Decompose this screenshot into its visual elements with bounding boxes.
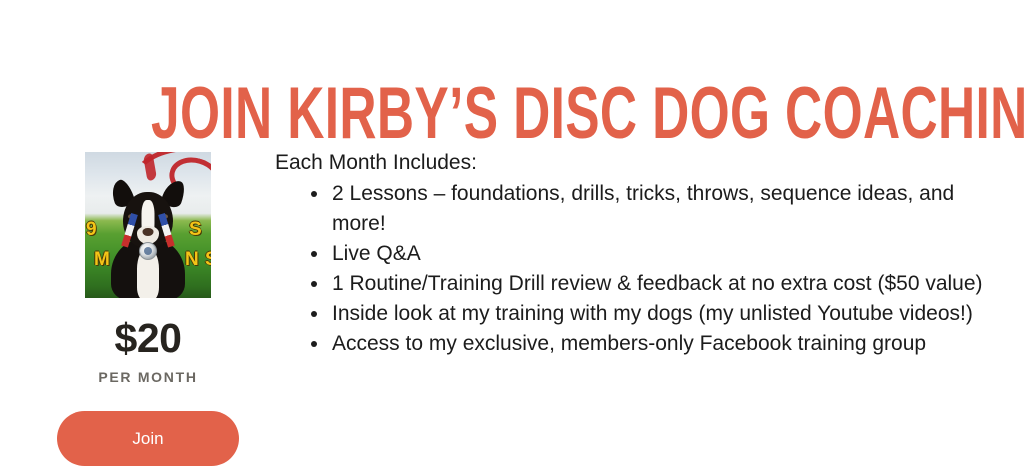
content-area: 9 M S N S (0, 140, 1024, 476)
bullet-icon (311, 341, 317, 347)
list-item: 1 Routine/Training Drill review & feedba… (311, 269, 995, 299)
price-amount: $20 (40, 318, 256, 359)
medal-ribbon (129, 214, 167, 250)
list-item-label: 1 Routine/Training Drill review & feedba… (332, 272, 983, 295)
list-item-label: 2 Lessons – foundations, drills, tricks,… (332, 182, 954, 235)
list-item-label: Live Q&A (332, 242, 421, 265)
list-item: Access to my exclusive, members-only Fac… (311, 329, 995, 359)
bullet-icon (311, 251, 317, 257)
bullet-icon (311, 311, 317, 317)
banner-letter: S (205, 250, 211, 269)
features-intro: Each Month Includes: (275, 148, 995, 177)
bullet-icon (311, 191, 317, 197)
banner-letter: S (189, 220, 202, 239)
banner-letter: 9 (86, 220, 97, 239)
medal-icon (139, 242, 157, 260)
bullet-icon (311, 281, 317, 287)
billing-period-label: PER MONTH (40, 370, 256, 384)
list-item-label: Access to my exclusive, members-only Fac… (332, 332, 926, 355)
list-item: 2 Lessons – foundations, drills, tricks,… (311, 179, 995, 239)
join-button[interactable]: Join (57, 411, 239, 466)
list-item: Inside look at my training with my dogs … (311, 299, 995, 329)
features-list: 2 Lessons – foundations, drills, tricks,… (275, 179, 995, 359)
dog-photo: 9 M S N S (85, 152, 211, 298)
list-item-label: Inside look at my training with my dogs … (332, 302, 973, 325)
promo-page: JOIN KIRBY’S DISC DOG COACHING CLUB! 9 M… (0, 0, 1024, 476)
features-section: Each Month Includes: 2 Lessons – foundat… (275, 148, 995, 359)
dog-photo-image: 9 M S N S (85, 152, 211, 298)
pricing-card: 9 M S N S (40, 140, 256, 466)
banner-letter: N (185, 250, 199, 269)
list-item: Live Q&A (311, 239, 995, 269)
banner-letter: M (94, 250, 110, 269)
page-title: JOIN KIRBY’S DISC DOG COACHING CLUB! (151, 77, 873, 150)
